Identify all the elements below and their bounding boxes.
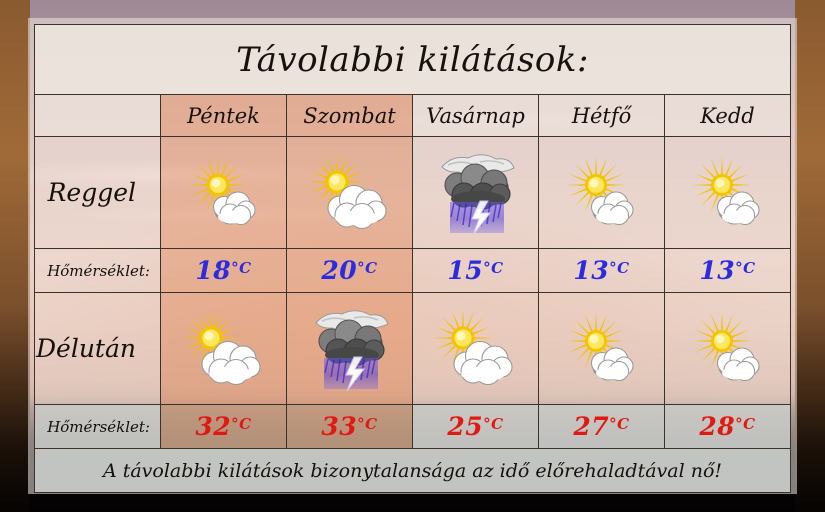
temp-unit: °C (609, 415, 629, 433)
temp-unit: °C (735, 259, 755, 277)
cell-afternoon-saturday[interactable] (287, 293, 413, 405)
day-label: Péntek (187, 104, 260, 128)
day-label: Kedd (700, 104, 754, 128)
sun-small-cloud-icon (682, 303, 774, 395)
temp-value: 28 (699, 412, 735, 441)
temp-value: 20 (321, 256, 357, 285)
temp-unit: °C (231, 415, 251, 433)
cell-morning-sunday[interactable] (413, 137, 539, 249)
forecast-table: Távolabbi kilátások: Péntek Szombat Vasá… (34, 24, 791, 493)
temp-value: 13 (573, 256, 609, 285)
cell-morning-saturday[interactable] (287, 137, 413, 249)
day-label: Vasárnap (426, 104, 525, 128)
temp-value: 25 (447, 412, 483, 441)
temp-unit: °C (357, 259, 377, 277)
temp-afternoon-friday: 32°C (161, 405, 287, 449)
temp-morning-monday: 13°C (539, 249, 665, 293)
afternoon-icon-row: Délután (35, 293, 791, 405)
thunderstorm-icon (430, 147, 522, 239)
day-header-monday[interactable]: Hétfő (539, 95, 665, 137)
cell-afternoon-monday[interactable] (539, 293, 665, 405)
temp-value: 27 (573, 412, 609, 441)
frame-left-edge (0, 0, 30, 512)
sun-clouds-icon (304, 147, 396, 239)
row-label-text: Délután (35, 334, 160, 363)
temp-unit: °C (609, 259, 629, 277)
header-corner-cell (35, 95, 161, 137)
temp-unit: °C (357, 415, 377, 433)
morning-temp-row: Hőmérséklet: 18°C 20°C 15°C 13°C 13°C (35, 249, 791, 293)
row-label-afternoon: Délután (35, 293, 161, 405)
temp-morning-friday: 18°C (161, 249, 287, 293)
temp-morning-saturday: 20°C (287, 249, 413, 293)
frame-right-edge (795, 0, 825, 512)
temp-value: 32 (195, 412, 231, 441)
forecast-card: Távolabbi kilátások: Péntek Szombat Vasá… (28, 18, 797, 494)
temp-unit: °C (735, 415, 755, 433)
cell-morning-monday[interactable] (539, 137, 665, 249)
temp-value: 15 (447, 256, 483, 285)
sun-small-cloud-icon (682, 147, 774, 239)
day-header-row: Péntek Szombat Vasárnap Hétfő Kedd (35, 95, 791, 137)
cell-afternoon-tuesday[interactable] (665, 293, 791, 405)
sun-small-cloud-icon (178, 147, 270, 239)
temp-value: 18 (195, 256, 231, 285)
cell-afternoon-sunday[interactable] (413, 293, 539, 405)
temp-unit: °C (483, 415, 503, 433)
sun-small-cloud-icon (556, 303, 648, 395)
row-label-morning: Reggel (35, 137, 161, 249)
sun-clouds-icon (430, 303, 522, 395)
footer-row: A távolabbi kilátások bizonytalansága az… (35, 449, 791, 493)
row-label-afternoon-temp: Hőmérséklet: (35, 405, 161, 449)
title-row: Távolabbi kilátások: (35, 25, 791, 95)
temp-morning-sunday: 15°C (413, 249, 539, 293)
temp-unit: °C (483, 259, 503, 277)
day-label: Szombat (303, 104, 395, 128)
cell-afternoon-friday[interactable] (161, 293, 287, 405)
afternoon-temp-row: Hőmérséklet: 32°C 33°C 25°C 27°C 28°C (35, 405, 791, 449)
thunderstorm-icon (304, 303, 396, 395)
temp-unit: °C (231, 259, 251, 277)
sun-small-cloud-icon (556, 147, 648, 239)
temp-value: 13 (699, 256, 735, 285)
day-header-tuesday[interactable]: Kedd (665, 95, 791, 137)
footer-note: A távolabbi kilátások bizonytalansága az… (103, 460, 722, 482)
day-header-saturday[interactable]: Szombat (287, 95, 413, 137)
morning-icon-row: Reggel (35, 137, 791, 249)
temp-afternoon-sunday: 25°C (413, 405, 539, 449)
cell-morning-friday[interactable] (161, 137, 287, 249)
footer-cell: A távolabbi kilátások bizonytalansága az… (35, 449, 791, 493)
row-label-text: Reggel (35, 178, 160, 207)
temp-afternoon-monday: 27°C (539, 405, 665, 449)
temp-label-text: Hőmérséklet: (35, 418, 160, 436)
temp-morning-tuesday: 13°C (665, 249, 791, 293)
row-label-morning-temp: Hőmérséklet: (35, 249, 161, 293)
temp-label-text: Hőmérséklet: (35, 262, 160, 280)
page-title: Távolabbi kilátások: (236, 40, 589, 80)
cell-morning-tuesday[interactable] (665, 137, 791, 249)
day-header-sunday[interactable]: Vasárnap (413, 95, 539, 137)
title-cell: Távolabbi kilátások: (35, 25, 791, 95)
sun-clouds-icon (178, 303, 270, 395)
temp-afternoon-saturday: 33°C (287, 405, 413, 449)
day-header-friday[interactable]: Péntek (161, 95, 287, 137)
day-label: Hétfő (572, 104, 632, 128)
temp-value: 33 (321, 412, 357, 441)
temp-afternoon-tuesday: 28°C (665, 405, 791, 449)
